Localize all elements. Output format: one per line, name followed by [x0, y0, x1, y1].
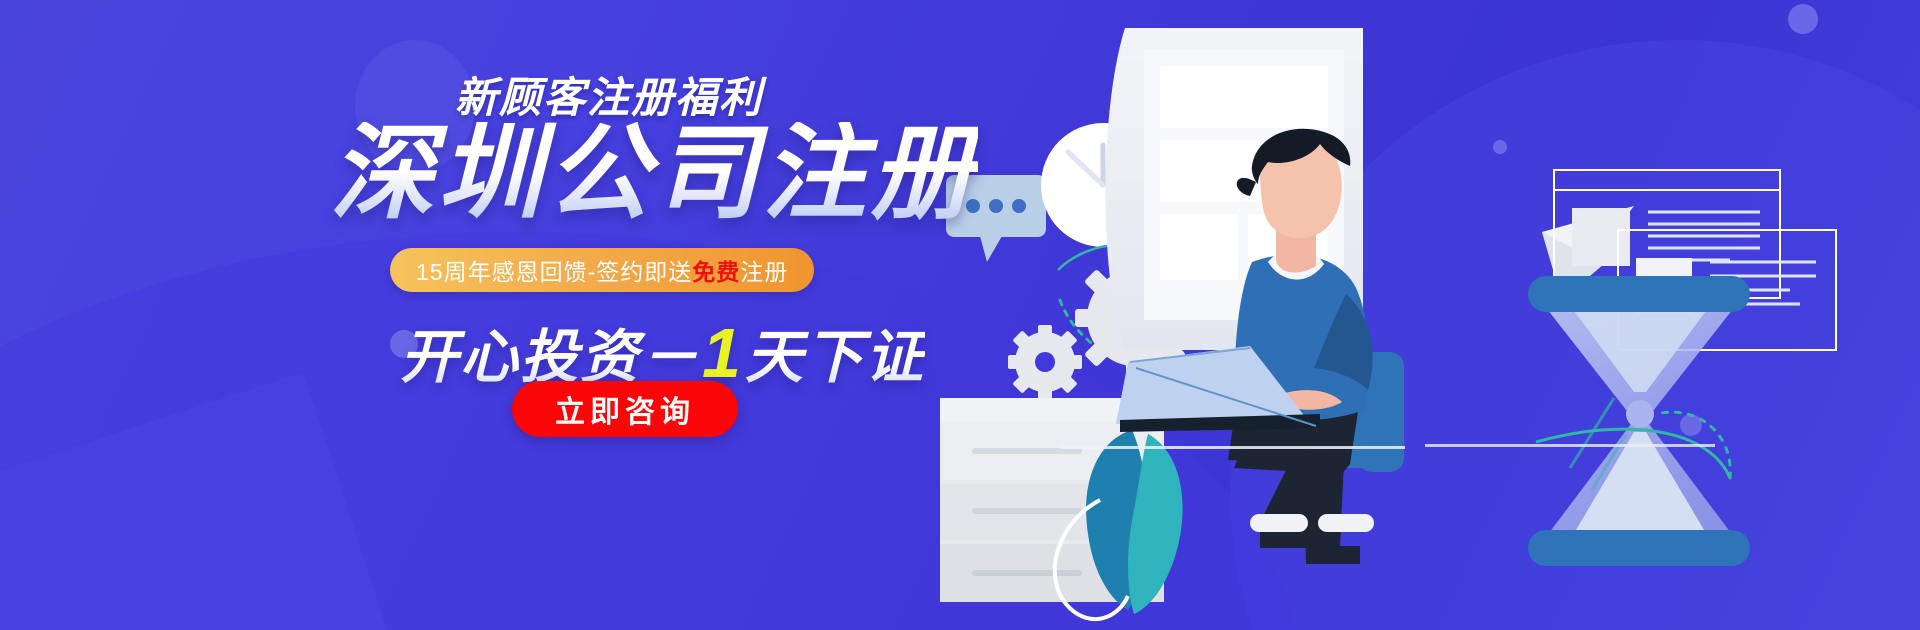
gear-small-icon — [1008, 325, 1082, 400]
badge-highlight: 免费 — [692, 253, 740, 287]
promo-badge: 15周年感恩回馈-签约即送免费注册 — [390, 248, 814, 292]
copy-block: 新顾客注册福利 深圳公司注册 15周年感恩回馈-签约即送免费注册 开心投资－1天… — [0, 0, 960, 630]
badge-suffix: 注册 — [740, 253, 788, 287]
promo-banner: 新顾客注册福利 深圳公司注册 15周年感恩回馈-签约即送免费注册 开心投资－1天… — [0, 0, 1920, 630]
consult-now-button[interactable]: 立即咨询 — [512, 381, 738, 437]
ground-line — [1425, 444, 1715, 447]
badge-prefix: 15周年感恩回馈-签约即送 — [416, 253, 692, 287]
illustration — [940, 0, 1920, 630]
hourglass-icon — [1528, 276, 1750, 566]
ground-line — [1060, 446, 1405, 449]
page-title: 深圳公司注册 — [330, 122, 978, 226]
subheadline-suffix: 天下证 — [745, 325, 925, 390]
